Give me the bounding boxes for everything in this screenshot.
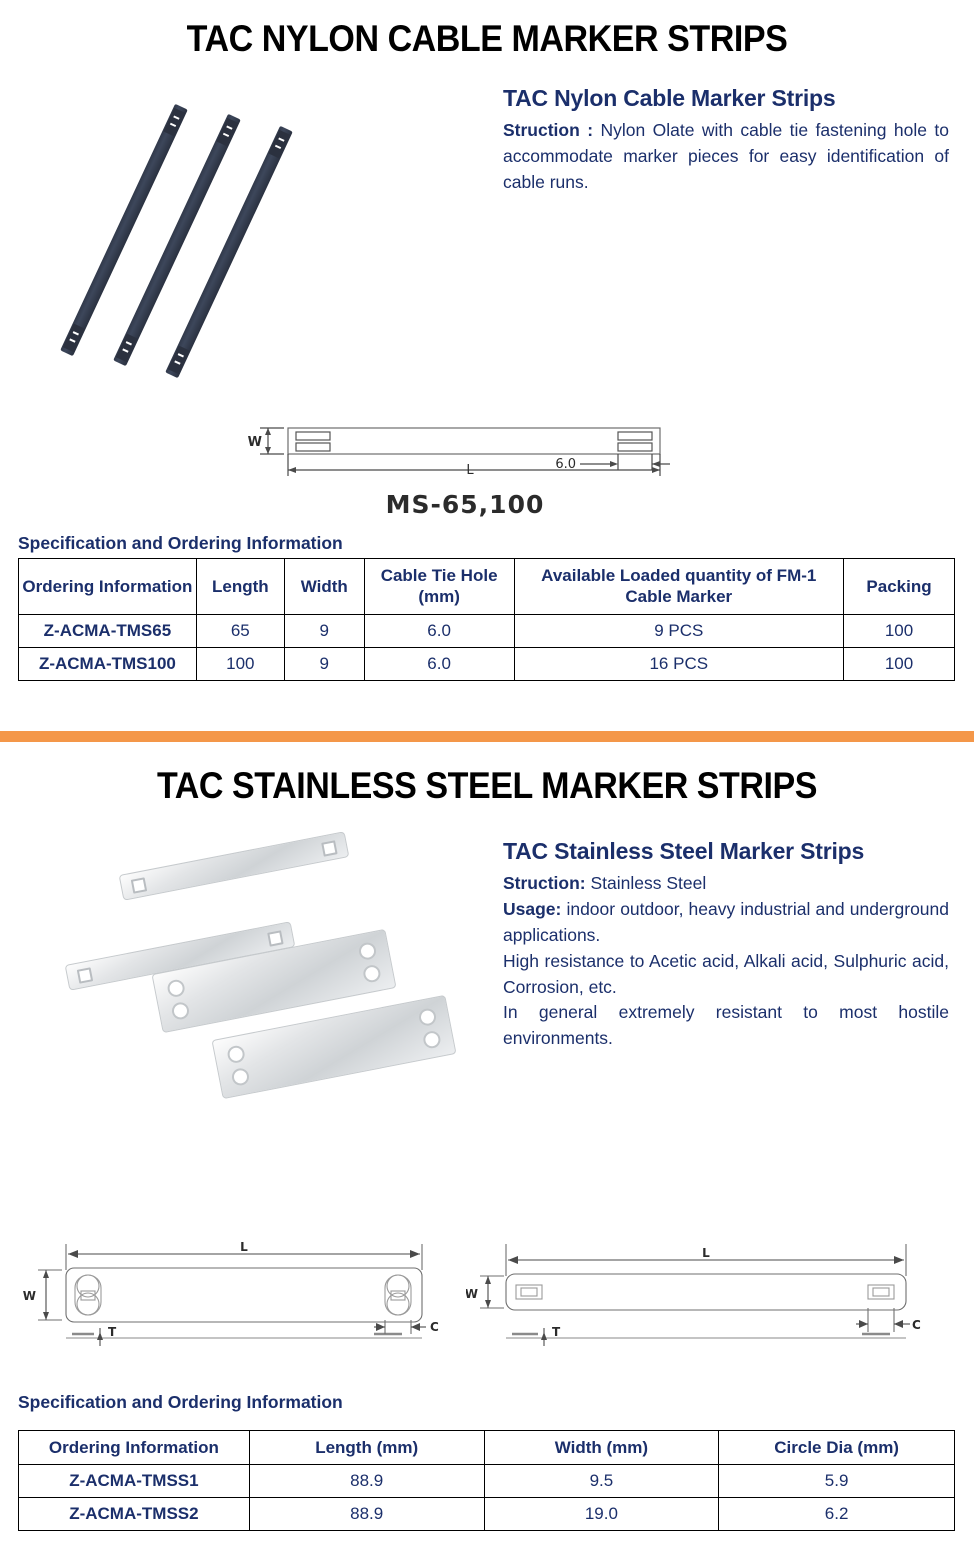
- table-header-row: Ordering Information Length (mm) Width (…: [19, 1431, 955, 1465]
- table-header-row: Ordering Information Length Width Cable …: [19, 559, 955, 615]
- steel-spec-table: Ordering Information Length (mm) Width (…: [18, 1430, 955, 1531]
- nylon-strip-1: [60, 104, 188, 356]
- dim-c-label: C: [912, 1318, 921, 1332]
- cell-width: 19.0: [484, 1498, 719, 1531]
- steel-product-heading: TAC Stainless Steel Marker Strips: [503, 838, 949, 865]
- table-row: Z-ACMA-TMS100 100 9 6.0 16 PCS 100: [19, 647, 955, 680]
- cell-circle-dia: 5.9: [719, 1465, 955, 1498]
- cell-width: 9: [284, 614, 364, 647]
- nylon-product-heading: TAC Nylon Cable Marker Strips: [503, 85, 949, 112]
- cell-length: 88.9: [249, 1465, 484, 1498]
- nylon-spec-label: Specification and Ordering Information: [18, 533, 343, 554]
- struction-label: Struction:: [503, 873, 586, 893]
- th-packing: Packing: [844, 559, 955, 615]
- th-length: Length: [196, 559, 284, 615]
- steel-product-text: TAC Stainless Steel Marker Strips Struct…: [503, 838, 949, 1052]
- dim-t-label: T: [108, 1325, 117, 1339]
- dim-l-label: L: [702, 1246, 710, 1260]
- ms-65-100-drawing-svg: W L 6.0: [240, 408, 690, 488]
- th-available-loaded-quantity: Available Loaded quantity of FM-1 Cable …: [514, 559, 844, 615]
- dim-hole-label: 6.0: [555, 457, 576, 472]
- table-row: Z-ACMA-TMSS2 88.9 19.0 6.2: [19, 1498, 955, 1531]
- th-ordering-information: Ordering Information: [19, 559, 197, 615]
- cell-width: 9: [284, 647, 364, 680]
- cell-ordering-information: Z-ACMA-TMSS2: [19, 1498, 250, 1531]
- ms-drawing-caption: MS-65,100: [240, 490, 690, 519]
- steel-hostile-line: In general extremely resistant to most h…: [503, 1000, 949, 1052]
- cell-length: 65: [196, 614, 284, 647]
- steel-product-photo: [55, 845, 485, 1150]
- th-ordering-information: Ordering Information: [19, 1431, 250, 1465]
- nylon-section-title: TAC NYLON CABLE MARKER STRIPS: [39, 18, 935, 60]
- steel-spec-table-wrap: Ordering Information Length (mm) Width (…: [18, 1430, 955, 1531]
- steel-technical-drawing-right: L W T C: [466, 1228, 936, 1346]
- cell-packing: 100: [844, 614, 955, 647]
- th-length-mm: Length (mm): [249, 1431, 484, 1465]
- steel-struction-line: Struction: Stainless Steel: [503, 871, 949, 897]
- th-circle-dia-mm: Circle Dia (mm): [719, 1431, 955, 1465]
- dim-c-label: C: [430, 1320, 439, 1334]
- cell-cable-tie-hole: 6.0: [364, 647, 514, 680]
- usage-label: Usage:: [503, 899, 561, 919]
- hostile-text: In general extremely resistant to most h…: [503, 1002, 949, 1048]
- steel-spec-label: Specification and Ordering Information: [18, 1392, 343, 1413]
- cell-loaded-quantity: 9 PCS: [514, 614, 844, 647]
- nylon-strip-3: [165, 126, 293, 378]
- nylon-technical-drawing: W L 6.0 MS-65,100: [240, 408, 690, 519]
- dim-w-label: W: [466, 1287, 478, 1301]
- nylon-strip-2: [113, 114, 241, 366]
- cell-cable-tie-hole: 6.0: [364, 614, 514, 647]
- steel-plate-narrow-1: [119, 831, 350, 900]
- nylon-product-text: TAC Nylon Cable Marker Strips Struction …: [503, 85, 949, 196]
- orange-section-divider: [0, 731, 974, 742]
- cell-packing: 100: [844, 647, 955, 680]
- struction-label: Struction :: [503, 120, 593, 140]
- dim-l-label: L: [466, 463, 474, 478]
- usage-text: indoor outdoor, heavy industrial and und…: [503, 899, 949, 945]
- cell-loaded-quantity: 16 PCS: [514, 647, 844, 680]
- resistance-text: High resistance to Acetic acid, Alkali a…: [503, 951, 949, 997]
- table-row: Z-ACMA-TMS65 65 9 6.0 9 PCS 100: [19, 614, 955, 647]
- nylon-product-description: Struction : Nylon Olate with cable tie f…: [503, 118, 949, 196]
- steel-section-title: TAC STAINLESS STEEL MARKER STRIPS: [39, 765, 935, 807]
- th-width: Width: [284, 559, 364, 615]
- cell-ordering-information: Z-ACMA-TMS100: [19, 647, 197, 680]
- th-cable-tie-hole: Cable Tie Hole (mm): [364, 559, 514, 615]
- cell-ordering-information: Z-ACMA-TMS65: [19, 614, 197, 647]
- table-row: Z-ACMA-TMSS1 88.9 9.5 5.9: [19, 1465, 955, 1498]
- steel-resistance-line: High resistance to Acetic acid, Alkali a…: [503, 949, 949, 1001]
- steel-usage-line: Usage: indoor outdoor, heavy industrial …: [503, 897, 949, 949]
- dim-t-label: T: [552, 1325, 561, 1339]
- nylon-product-photo: [55, 78, 475, 398]
- cell-length: 100: [196, 647, 284, 680]
- cell-ordering-information: Z-ACMA-TMSS1: [19, 1465, 250, 1498]
- steel-right-drawing-svg: L W T C: [466, 1228, 936, 1346]
- dim-w-label: W: [23, 1289, 36, 1303]
- dim-w-label: W: [248, 435, 262, 450]
- cell-circle-dia: 6.2: [719, 1498, 955, 1531]
- steel-technical-drawing-left: L W T C: [22, 1228, 462, 1346]
- nylon-spec-table-wrap: Ordering Information Length Width Cable …: [18, 558, 955, 681]
- cell-width: 9.5: [484, 1465, 719, 1498]
- th-width-mm: Width (mm): [484, 1431, 719, 1465]
- struction-text: Stainless Steel: [586, 873, 707, 893]
- nylon-spec-table: Ordering Information Length Width Cable …: [18, 558, 955, 681]
- steel-left-drawing-svg: L W T C: [22, 1228, 462, 1346]
- cell-length: 88.9: [249, 1498, 484, 1531]
- dim-l-label: L: [240, 1240, 248, 1254]
